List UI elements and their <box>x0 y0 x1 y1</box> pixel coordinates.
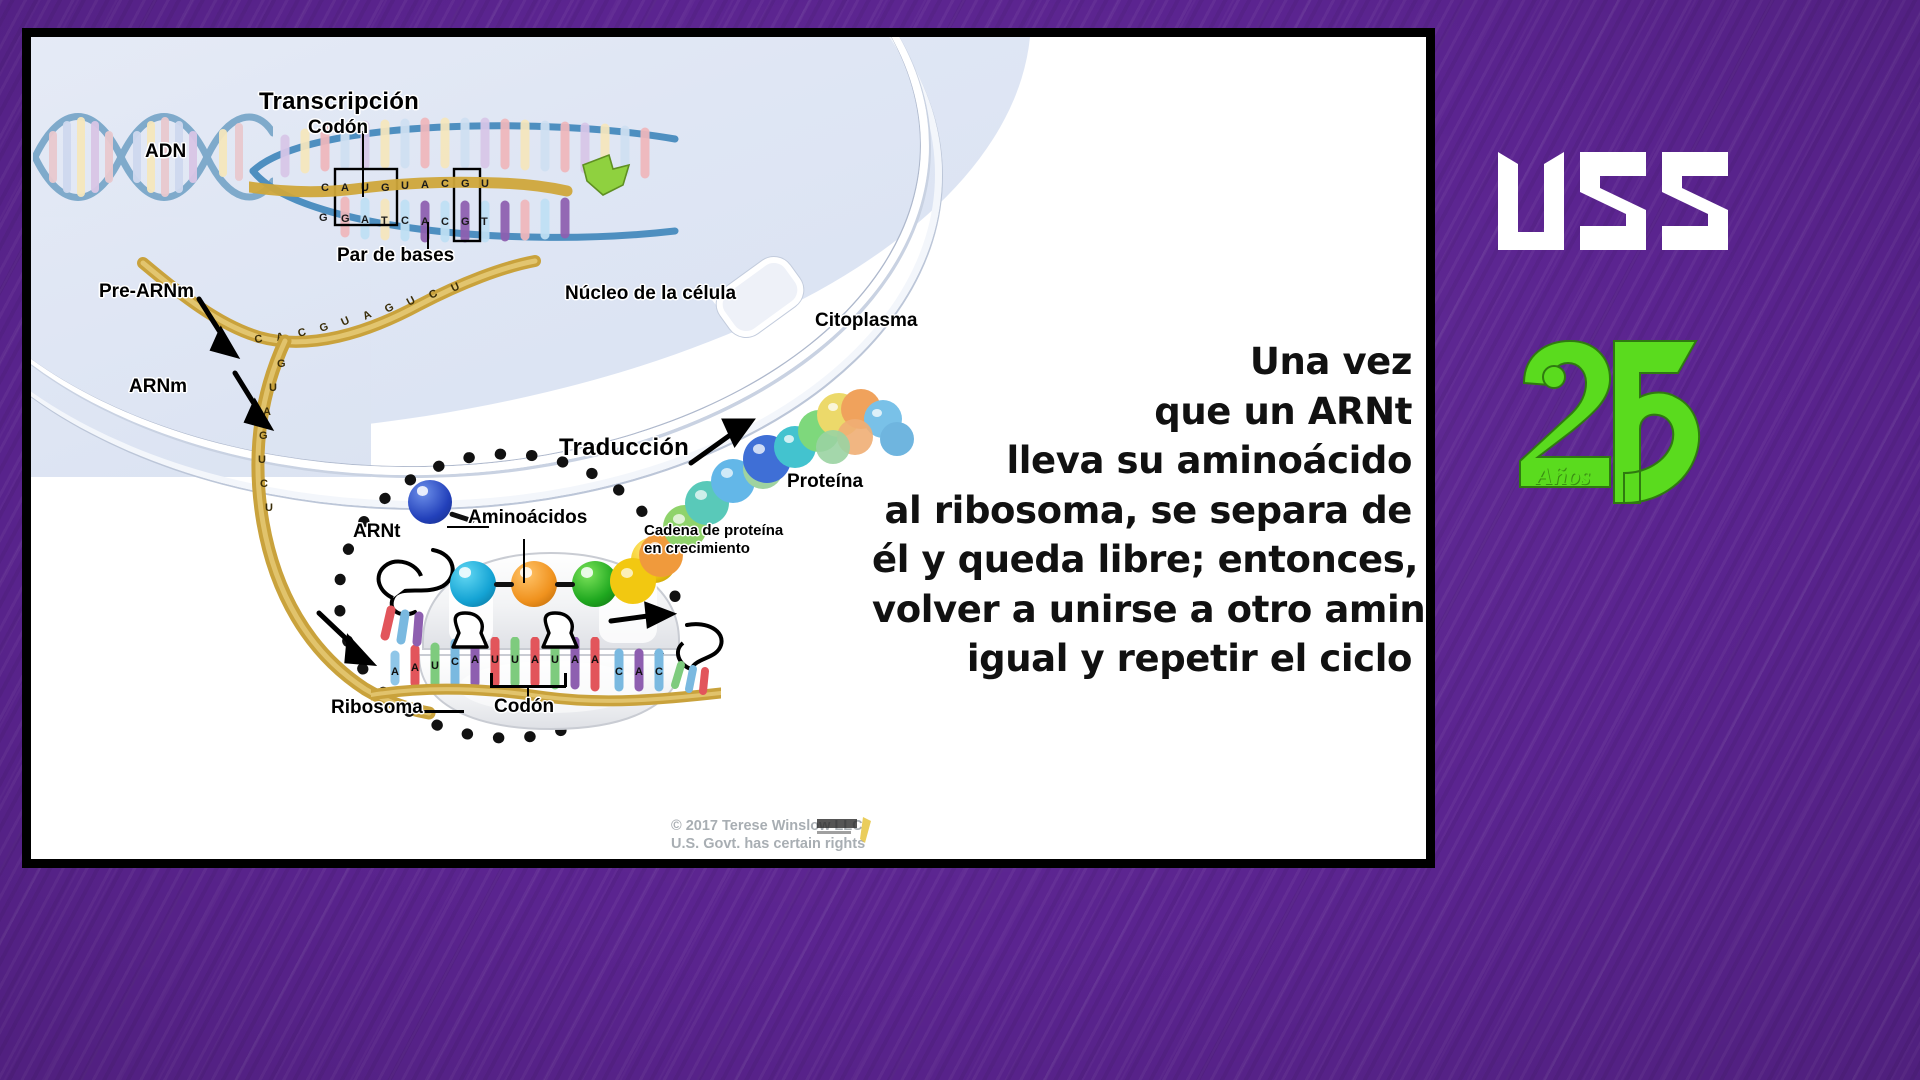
svg-text:T: T <box>381 215 388 227</box>
svg-text:C: C <box>441 178 449 190</box>
amino-acid-link <box>555 582 575 587</box>
label-translation: Traducción <box>559 435 689 462</box>
svg-text:G: G <box>381 182 390 194</box>
note-line: él y queda libre; entonces, podrá <box>872 535 1412 585</box>
amino-acid-bead-orange <box>511 561 557 607</box>
label-protein: Proteína <box>787 471 863 492</box>
svg-text:A: A <box>341 182 349 194</box>
note-line: igual y repetir el ciclo <box>872 634 1412 684</box>
svg-text:A: A <box>361 214 369 226</box>
svg-text:G: G <box>341 213 350 225</box>
anniversary-25-logo: Años <box>1514 335 1704 515</box>
svg-text:U: U <box>265 502 273 514</box>
explanatory-note: Una vez que un ARNt lleva su aminoácido … <box>872 337 1412 684</box>
svg-text:U: U <box>401 180 409 192</box>
svg-text:A: A <box>635 666 643 678</box>
leader-line-codon-top <box>362 131 364 197</box>
uss-brand-block: Años <box>1478 150 1878 570</box>
svg-text:A: A <box>421 179 429 191</box>
label-pre-mrna: Pre-ARNm <box>99 281 194 302</box>
leader-line-amino-acids <box>523 539 525 583</box>
svg-text:G: G <box>461 216 470 228</box>
svg-text:G: G <box>319 212 328 224</box>
leader-bracket-codon-bottom <box>490 685 566 688</box>
svg-text:T: T <box>481 216 488 228</box>
arrow-pre-mrna <box>191 293 251 363</box>
leader-bracket-codon-right <box>564 673 567 687</box>
label-codon-bottom: Codón <box>494 696 554 717</box>
arrow-to-protein <box>685 413 765 473</box>
note-line: volver a unirse a otro aminoácido <box>872 585 1412 635</box>
svg-text:C: C <box>321 182 329 194</box>
uss-wordmark-logo <box>1496 150 1758 275</box>
leader-bracket-codon-left <box>490 673 493 687</box>
label-protein-chain-line1: Cadena de proteína <box>644 523 783 540</box>
label-protein-chain-line2: en crecimiento <box>644 541 750 558</box>
svg-text:A: A <box>411 662 419 674</box>
svg-text:G: G <box>461 178 470 190</box>
label-transcription: Transcripción <box>259 89 419 116</box>
slide-frame: CAU GUA CGU GGA TCA CGT C A C <box>22 28 1435 868</box>
label-amino-acids: Aminoácidos <box>468 507 587 528</box>
svg-text:C: C <box>401 215 409 227</box>
slide-canvas: CAU GUA CGU GGA TCA CGT C A C <box>31 37 1426 859</box>
label-dna: ADN <box>145 141 186 162</box>
amino-acid-link <box>494 582 514 587</box>
amino-acid-bead-blue <box>408 480 452 524</box>
svg-text:U: U <box>258 454 266 466</box>
amino-acid-bead-cyan <box>450 561 496 607</box>
label-trna: ARNt <box>353 521 401 542</box>
arrow-mrna <box>227 367 287 437</box>
arrow-trna-release <box>607 599 677 639</box>
svg-text:C: C <box>441 216 449 228</box>
terese-winslow-watermark <box>815 815 875 849</box>
label-codon-top: Codón <box>308 117 368 138</box>
central-dogma-diagram: CAU GUA CGU GGA TCA CGT C A C <box>31 37 893 859</box>
note-line: al ribosoma, se separa de <box>872 486 1412 536</box>
label-base-pair: Par de bases <box>337 245 454 266</box>
note-line: lleva su aminoácido <box>872 436 1412 486</box>
note-line: Una vez <box>872 337 1412 387</box>
svg-text:C: C <box>260 478 268 490</box>
svg-text:U: U <box>481 178 489 190</box>
note-line: que un ARNt <box>872 387 1412 437</box>
label-mrna: ARNm <box>129 376 187 397</box>
label-ribosome: Ribosoma <box>331 697 423 718</box>
svg-text:U: U <box>339 315 351 329</box>
arrow-mrna-into-ribosome <box>313 605 393 675</box>
label-nucleus: Núcleo de la célula <box>565 283 736 304</box>
label-cytoplasm: Citoplasma <box>815 310 917 331</box>
anniversary-word: Años <box>1536 463 1591 491</box>
